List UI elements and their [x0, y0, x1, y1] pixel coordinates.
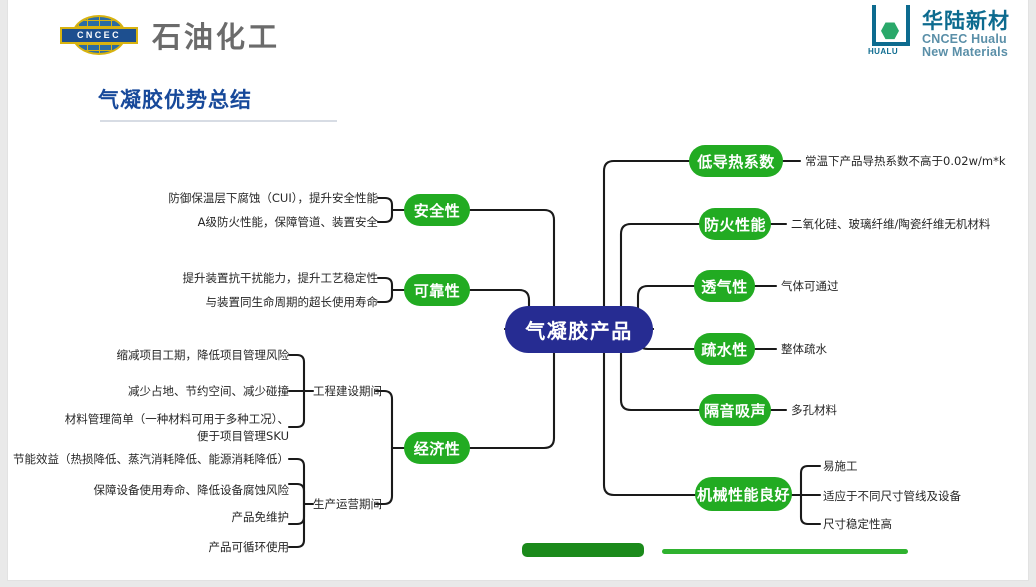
leaf-hydrophobic-1: 整体疏水 — [781, 341, 827, 358]
leaf-sound-1: 多孔材料 — [791, 402, 837, 419]
leaf-operation-3: 产品免维护 — [8, 509, 289, 526]
leaf-mechanical-3: 尺寸稳定性高 — [823, 516, 892, 533]
leaf-operation-1: 节能效益（热损降低、蒸汽消耗降低、能源消耗降低） — [8, 451, 289, 468]
leaf-breathable-1: 气体可通过 — [781, 278, 839, 295]
branch-node-breathable[interactable]: 透气性 — [694, 270, 755, 302]
leaf-operation-4: 产品可循环使用 — [8, 539, 289, 556]
leaf-safety-1: 防御保温层下腐蚀（CUI），提升安全性能 — [68, 190, 378, 207]
group-label-construction: 工程建设期间 — [313, 383, 382, 400]
branch-node-fireproof[interactable]: 防火性能 — [699, 208, 771, 240]
leaf-reliability-2: 与装置同生命周期的超长使用寿命 — [68, 294, 378, 311]
leaf-construction-3: 材料管理简单（一种材料可用于多种工况）、 — [8, 411, 289, 428]
leaf-reliability-1: 提升装置抗干扰能力，提升工艺稳定性 — [68, 270, 378, 287]
leaf-low-thermal-1: 常温下产品导热系数不高于0.02w/m*k — [805, 153, 1006, 170]
footer-rule-right — [662, 549, 908, 554]
leaf-safety-2: A级防火性能，保障管道、装置安全 — [68, 214, 378, 231]
branch-node-mechanical[interactable]: 机械性能良好 — [695, 477, 792, 511]
leaf-construction-2: 减少占地、节约空间、减少碰撞 — [8, 383, 289, 400]
slide-canvas: CNCEC 石油化工 HUALU 华陆新材 CNCEC Hualu New Ma… — [8, 0, 1028, 580]
center-node[interactable]: 气凝胶产品 — [505, 306, 653, 353]
branch-node-economy[interactable]: 经济性 — [404, 432, 470, 464]
leaf-construction-1: 缩减项目工期，降低项目管理风险 — [8, 347, 289, 364]
group-label-operation: 生产运营期间 — [313, 496, 382, 513]
leaf-operation-2: 保障设备使用寿命、降低设备腐蚀风险 — [8, 482, 289, 499]
branch-node-safety[interactable]: 安全性 — [404, 194, 470, 226]
leaf-construction-4: 便于项目管理SKU — [8, 428, 289, 445]
footer-block-left — [522, 543, 644, 557]
branch-node-low-thermal-conductivity[interactable]: 低导热系数 — [689, 145, 783, 177]
leaf-mechanical-2: 适应于不同尺寸管线及设备 — [823, 488, 961, 505]
mindmap: 气凝胶产品 安全性 可靠性 经济性 防御保温层下腐蚀（CUI），提升安全性能 A… — [8, 0, 1036, 587]
branch-node-hydrophobic[interactable]: 疏水性 — [694, 333, 755, 365]
leaf-fireproof-1: 二氧化硅、玻璃纤维/陶瓷纤维无机材料 — [791, 216, 990, 233]
branch-node-sound-insulation[interactable]: 隔音吸声 — [699, 394, 771, 426]
leaf-mechanical-1: 易施工 — [823, 458, 858, 475]
branch-node-reliability[interactable]: 可靠性 — [404, 274, 470, 306]
